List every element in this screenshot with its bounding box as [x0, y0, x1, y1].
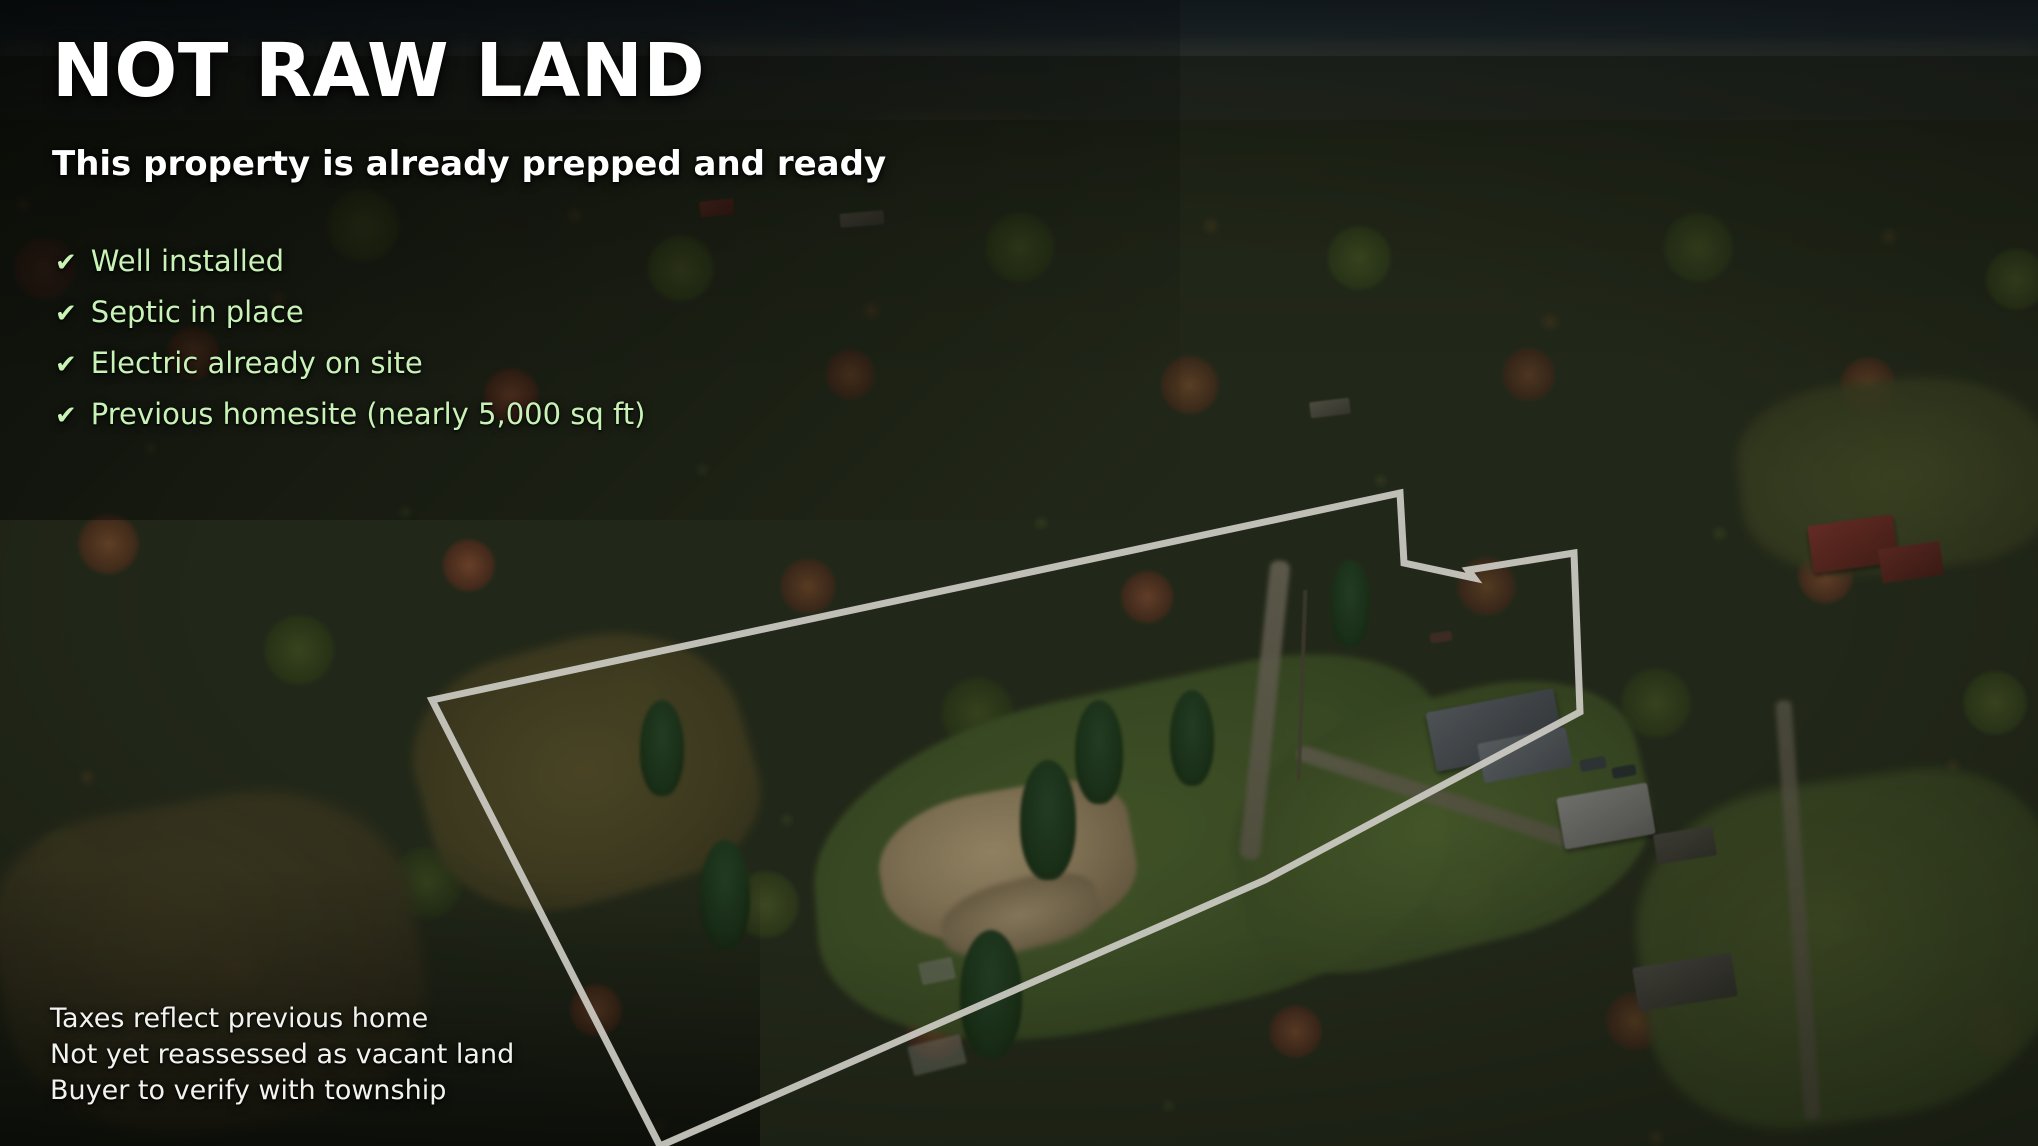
subtitle: This property is already prepped and rea…: [52, 144, 886, 184]
check-icon: ✔: [55, 250, 77, 276]
check-icon: ✔: [55, 301, 77, 327]
feature-label: Well installed: [91, 244, 284, 278]
conifer-tree: [1170, 690, 1214, 786]
check-icon: ✔: [55, 352, 77, 378]
list-item: ✔ Previous homesite (nearly 5,000 sq ft): [55, 397, 645, 431]
disclaimer-line-2: Not yet reassessed as vacant land: [50, 1037, 514, 1073]
check-icon: ✔: [55, 403, 77, 429]
disclaimer-line-1: Taxes reflect previous home: [50, 1001, 514, 1037]
feature-label: Septic in place: [91, 295, 304, 329]
list-item: ✔ Septic in place: [55, 295, 645, 329]
conifer-tree: [700, 840, 750, 950]
conifer-tree: [1075, 700, 1123, 804]
conifer-tree: [960, 930, 1022, 1058]
listing-slide: NOT RAW LAND This property is already pr…: [0, 0, 2038, 1146]
page-title: NOT RAW LAND: [52, 34, 705, 109]
disclaimer-line-3: Buyer to verify with township: [50, 1073, 514, 1109]
conifer-tree: [1330, 560, 1370, 648]
feature-label: Previous homesite (nearly 5,000 sq ft): [91, 397, 646, 431]
list-item: ✔ Electric already on site: [55, 346, 645, 380]
tax-disclaimer: Taxes reflect previous home Not yet reas…: [50, 1001, 514, 1109]
feature-label: Electric already on site: [91, 346, 423, 380]
conifer-tree: [640, 700, 684, 796]
list-item: ✔ Well installed: [55, 244, 645, 278]
conifer-tree: [1020, 760, 1076, 880]
feature-list: ✔ Well installed ✔ Septic in place ✔ Ele…: [55, 244, 645, 448]
